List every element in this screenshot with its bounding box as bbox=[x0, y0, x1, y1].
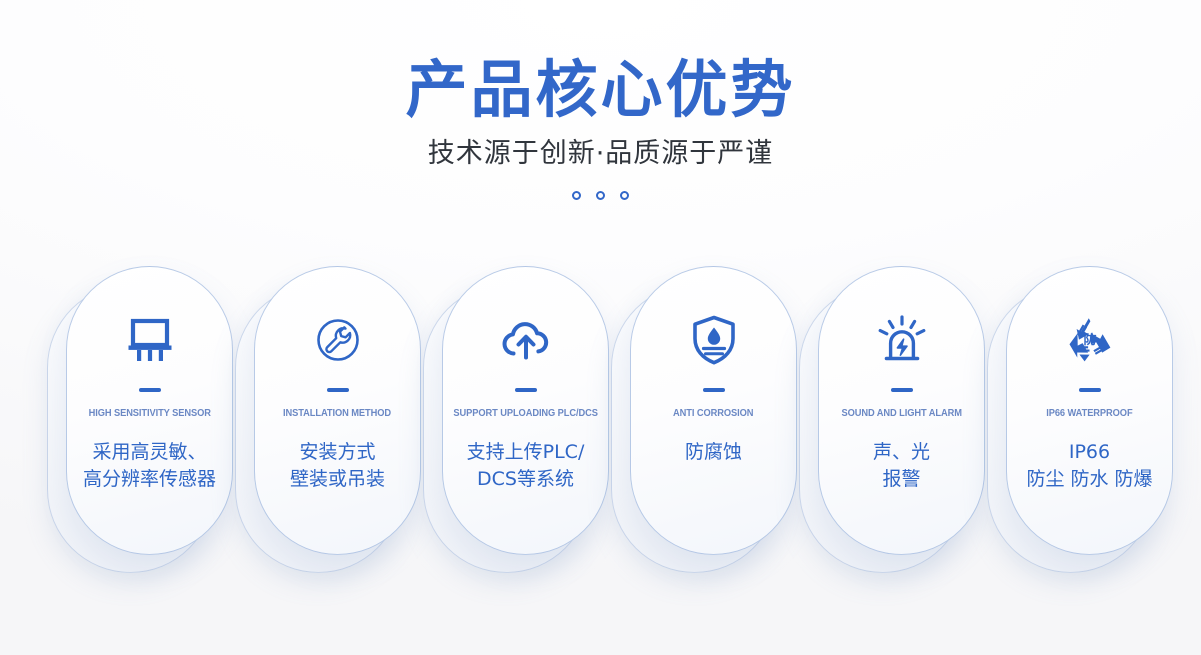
dot-1 bbox=[572, 191, 581, 200]
card-divider bbox=[327, 388, 349, 392]
card-cn-label: 安装方式 壁装或吊装 bbox=[284, 439, 391, 493]
card-eng-label: IP66 WATERPROOF bbox=[1046, 408, 1132, 420]
sensor-chip-icon bbox=[124, 314, 176, 366]
card-divider bbox=[891, 388, 913, 392]
advantage-card[interactable]: HIGH SENSITIVITY SENSOR 采用高灵敏、 高分辨率传感器 bbox=[47, 266, 214, 573]
card-front-layer[interactable]: 防 IP66 WATERPROOF IP66 防尘 防水 防爆 bbox=[1006, 266, 1173, 555]
card-cn-label: 防腐蚀 bbox=[679, 439, 748, 466]
advantage-card[interactable]: SOUND AND LIGHT ALARM 声、光 报警 bbox=[799, 266, 966, 573]
card-front-layer[interactable]: INSTALLATION METHOD 安装方式 壁装或吊装 bbox=[254, 266, 421, 555]
advantage-card[interactable]: ANTI CORROSION 防腐蚀 bbox=[611, 266, 778, 573]
card-front-layer[interactable]: SUPPORT UPLOADING PLC/DCS 支持上传PLC/ DCS等系… bbox=[442, 266, 609, 555]
dot-2 bbox=[596, 191, 605, 200]
card-front-layer[interactable]: HIGH SENSITIVITY SENSOR 采用高灵敏、 高分辨率传感器 bbox=[66, 266, 233, 555]
card-cn-label: 声、光 报警 bbox=[867, 439, 936, 493]
advantage-card-list: HIGH SENSITIVITY SENSOR 采用高灵敏、 高分辨率传感器 I… bbox=[0, 266, 1201, 596]
card-front-layer[interactable]: SOUND AND LIGHT ALARM 声、光 报警 bbox=[818, 266, 985, 555]
card-divider bbox=[703, 388, 725, 392]
page-title: 产品核心优势 bbox=[0, 0, 1201, 122]
alarm-siren-icon bbox=[874, 314, 930, 366]
card-front-layer[interactable]: ANTI CORROSION 防腐蚀 bbox=[630, 266, 797, 555]
card-cn-label: IP66 防尘 防水 防爆 bbox=[1020, 439, 1158, 493]
decorative-dots bbox=[0, 170, 1201, 200]
card-eng-label: HIGH SENSITIVITY SENSOR bbox=[88, 408, 210, 420]
card-eng-label: ANTI CORROSION bbox=[673, 408, 753, 420]
advantage-card[interactable]: SUPPORT UPLOADING PLC/DCS 支持上传PLC/ DCS等系… bbox=[423, 266, 590, 573]
card-cn-label: 采用高灵敏、 高分辨率传感器 bbox=[77, 439, 222, 493]
card-eng-label: SUPPORT UPLOADING PLC/DCS bbox=[453, 408, 597, 420]
wrench-circle-icon bbox=[312, 314, 364, 366]
card-divider bbox=[1079, 388, 1101, 392]
product-advantages-page: 产品核心优势 技术源于创新·品质源于严谨 bbox=[0, 0, 1201, 655]
card-cn-label: 支持上传PLC/ DCS等系统 bbox=[461, 439, 591, 493]
page-subtitle: 技术源于创新·品质源于严谨 bbox=[0, 122, 1201, 170]
svg-text:防: 防 bbox=[1083, 332, 1096, 348]
page-header: 产品核心优势 技术源于创新·品质源于严谨 bbox=[0, 0, 1201, 200]
advantage-card[interactable]: 防 IP66 WATERPROOF IP66 防尘 防水 防爆 bbox=[987, 266, 1154, 573]
shield-droplet-icon bbox=[690, 314, 738, 366]
advantage-card[interactable]: INSTALLATION METHOD 安装方式 壁装或吊装 bbox=[235, 266, 402, 573]
recycle-protect-icon: 防 bbox=[1063, 314, 1117, 366]
card-divider bbox=[515, 388, 537, 392]
card-divider bbox=[139, 388, 161, 392]
dot-3 bbox=[620, 191, 629, 200]
card-eng-label: SOUND AND LIGHT ALARM bbox=[841, 408, 961, 420]
cloud-upload-icon bbox=[498, 314, 554, 366]
card-eng-label: INSTALLATION METHOD bbox=[284, 408, 392, 420]
